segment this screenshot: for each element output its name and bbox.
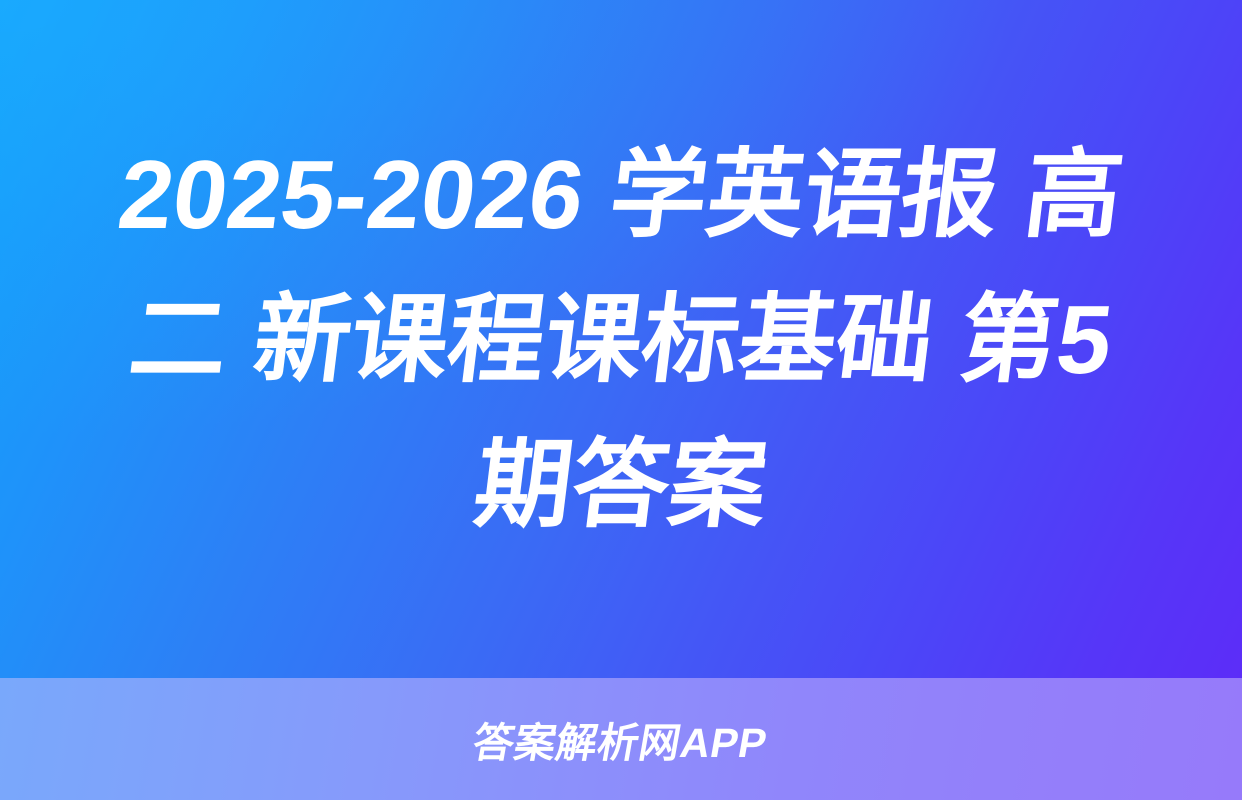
headline-line-3: 期答案 <box>62 412 1180 557</box>
app-watermark-label: 答案解析网APP <box>469 709 773 769</box>
footer-bar: 答案解析网APP <box>0 678 1242 800</box>
headline-line-2: 二 新课程课标基础 第5 <box>62 267 1180 412</box>
headline-block: 2025-2026 学英语报 高 二 新课程课标基础 第5 期答案 <box>0 0 1242 678</box>
answer-banner: 2025-2026 学英语报 高 二 新课程课标基础 第5 期答案 答案解析网A… <box>0 0 1242 800</box>
headline-line-1: 2025-2026 学英语报 高 <box>62 122 1180 267</box>
